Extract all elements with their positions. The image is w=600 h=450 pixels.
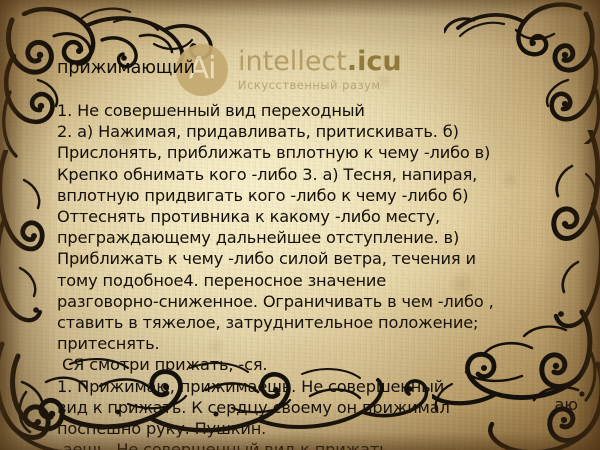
definition-line: СЯ смотри прижать, -ся. bbox=[57, 354, 527, 375]
truncated-text-fragment: аю bbox=[554, 395, 578, 414]
definition-line: тому подобное4. переносное значение bbox=[57, 270, 527, 291]
definition-line: вплотную придвигать кого -либо к чему -л… bbox=[57, 185, 527, 206]
definition-line: 1. Прижимаю, прижимаешь. Не совершенный bbox=[57, 376, 527, 397]
page-title: прижимающий bbox=[57, 58, 527, 79]
definition-line: вид к прижать. К сердцу своему он прижим… bbox=[57, 397, 527, 418]
definition-line: ставить в тяжелое, затруднительное полож… bbox=[57, 312, 527, 333]
slide-canvas: Ai intellect.icu Искусственный разум при… bbox=[0, 0, 600, 450]
definition-line: разговорно-сниженное. Ограничивать в чем… bbox=[57, 291, 527, 312]
definition-body: 1. Не совершенный вид переходный 2. а) Н… bbox=[57, 100, 527, 450]
definition-line: Крепко обнимать кого -либо 3. а) Тесня, … bbox=[57, 164, 527, 185]
definition-line: 2. а) Нажимая, придавливать, притискиват… bbox=[57, 121, 527, 142]
definition-line: Приближать к чему -либо силой ветра, теч… bbox=[57, 248, 527, 269]
definition-line: Оттеснять противника к какому -либо мест… bbox=[57, 206, 527, 227]
definition-line: поспешно руку. Пушкин. bbox=[57, 418, 527, 439]
ornament-flourish-mid-right-icon bbox=[538, 130, 600, 340]
definition-line: Прислонять, приближать вплотную к чему -… bbox=[57, 142, 527, 163]
dictionary-entry: прижимающий 1. Не совершенный вид перехо… bbox=[57, 58, 527, 450]
definition-line: -аешь. Не совершенный вид к прижать. bbox=[57, 439, 527, 450]
ornament-flourish-mid-left-icon bbox=[0, 150, 54, 330]
definition-line: 1. Не совершенный вид переходный bbox=[57, 100, 527, 121]
definition-line: притеснять. bbox=[57, 333, 527, 354]
definition-line: преграждающему дальнейшее отступление. в… bbox=[57, 227, 527, 248]
